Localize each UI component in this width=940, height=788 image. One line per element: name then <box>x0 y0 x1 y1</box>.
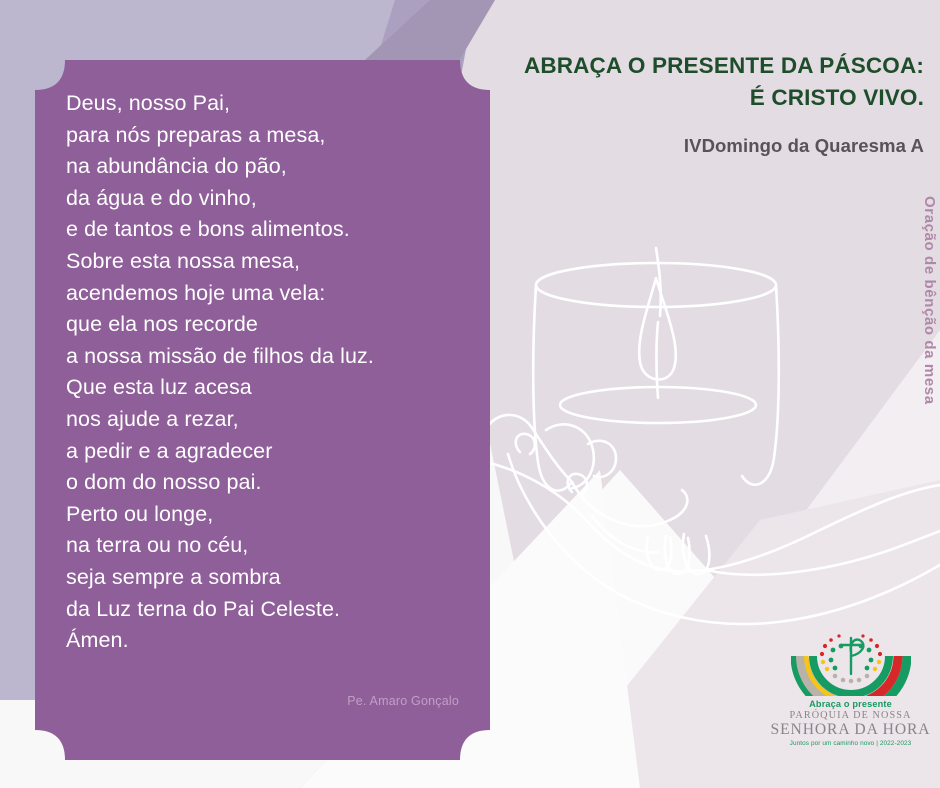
side-label-vertical: Oração de bênção da mesa <box>921 196 938 405</box>
poem-line: Deus, nosso Pai, <box>66 88 460 120</box>
headline-subtitle: IVDomingo da Quaresma A <box>444 135 924 157</box>
poem-attribution: Pe. Amaro Gonçalo <box>347 694 459 708</box>
poem-line: o dom do nosso pai. <box>66 467 460 499</box>
poem-line: a pedir e a agradecer <box>66 436 460 468</box>
logo-tagline: Abraça o presente <box>768 699 933 709</box>
poem-line: Que esta luz acesa <box>66 372 460 404</box>
poem-line: a nossa missão de filhos da luz. <box>66 341 460 373</box>
parish-logo-mark-icon <box>791 630 911 696</box>
parish-logo: Abraça o presente PARÓQUIA DE NOSSA SENH… <box>768 630 933 747</box>
headline-line-2: É CRISTO VIVO. <box>444 82 924 114</box>
poem-line: Ámen. <box>66 625 460 657</box>
poem-line: para nós preparas a mesa, <box>66 120 460 152</box>
hand-holding-candle-in-glass-line-art <box>460 230 940 650</box>
prayer-poem: Deus, nosso Pai, para nós preparas a mes… <box>66 88 460 657</box>
prayer-card-content: Deus, nosso Pai, para nós preparas a mes… <box>35 60 490 760</box>
poem-line: na abundância do pão, <box>66 151 460 183</box>
poem-line: que ela nos recorde <box>66 309 460 341</box>
headline: ABRAÇA O PRESENTE DA PÁSCOA: É CRISTO VI… <box>444 50 924 114</box>
poem-line: Perto ou longe, <box>66 499 460 531</box>
poem-line: Sobre esta nossa mesa, <box>66 246 460 278</box>
poster-canvas: ABRAÇA O PRESENTE DA PÁSCOA: É CRISTO VI… <box>0 0 940 788</box>
poem-line: da Luz terna do Pai Celeste. <box>66 594 460 626</box>
logo-parish-line-1: PARÓQUIA DE NOSSA <box>768 710 933 721</box>
headline-line-1: ABRAÇA O PRESENTE DA PÁSCOA: <box>444 50 924 82</box>
poem-line: nos ajude a rezar, <box>66 404 460 436</box>
poem-line: acendemos hoje uma vela: <box>66 278 460 310</box>
poem-line: seja sempre a sombra <box>66 562 460 594</box>
logo-footer-note: Juntos por um caminho novo | 2022-2023 <box>768 740 933 747</box>
glass-rim-icon <box>536 263 776 307</box>
prayer-card: Deus, nosso Pai, para nós preparas a mes… <box>35 60 490 760</box>
poem-line: na terra ou no céu, <box>66 530 460 562</box>
poem-line: da água e do vinho, <box>66 183 460 215</box>
logo-parish-line-2: SENHORA DA HORA <box>768 721 933 738</box>
poem-line: e de tantos e bons alimentos. <box>66 214 460 246</box>
